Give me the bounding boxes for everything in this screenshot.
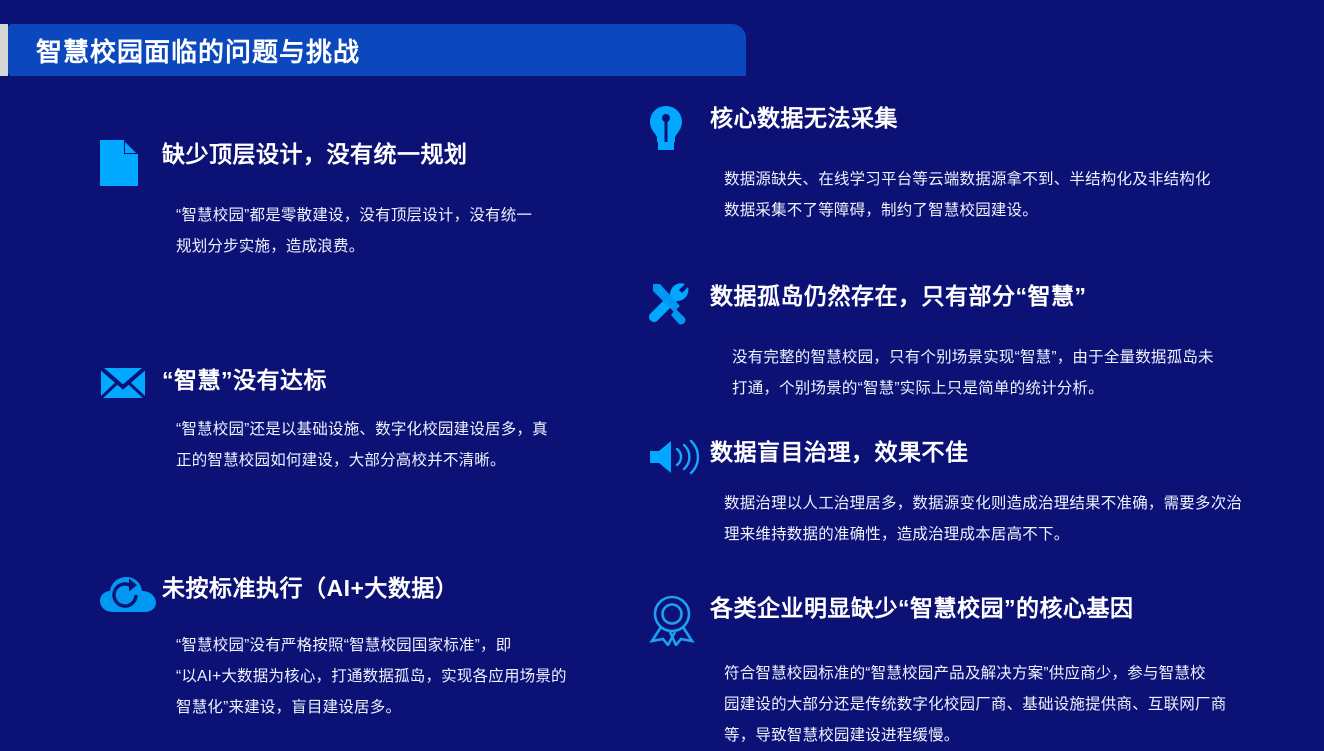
issue-body: 符合智慧校园标准的“智慧校园产品及解决方案”供应商少，参与智慧校 园建设的大部分… xyxy=(724,658,1308,751)
tools-icon xyxy=(648,282,710,328)
issue-title: 核心数据无法采集 xyxy=(710,104,898,133)
issue-title: 未按标准执行（AI+大数据） xyxy=(162,574,458,603)
envelope-icon xyxy=(100,366,162,400)
issue-title: 数据盲目治理，效果不佳 xyxy=(710,438,969,467)
award-icon xyxy=(648,594,710,646)
left-column: 缺少顶层设计，没有统一规划 “智慧校园”都是零散建设，没有顶层设计，没有统一 规… xyxy=(100,140,630,723)
issue-item-data-silos: 数据孤岛仍然存在，只有部分“智慧” 没有完整的智慧校园，只有个别场景实现“智慧”… xyxy=(648,282,1308,404)
issue-title: 缺少顶层设计，没有统一规划 xyxy=(162,140,468,169)
issue-item-blind-data-governance: 数据盲目治理，效果不佳 数据治理以人工治理居多，数据源变化则造成治理结果不准确，… xyxy=(648,438,1308,550)
page-title: 智慧校园面临的问题与挑战 xyxy=(36,32,360,69)
issue-title: 数据孤岛仍然存在，只有部分“智慧” xyxy=(710,282,1087,311)
issue-body: 没有完整的智慧校园，只有个别场景实现“智慧”，由于全量数据孤岛未 打通，个别场景… xyxy=(732,342,1308,404)
cloud-sync-icon xyxy=(100,574,162,616)
issue-item-missing-top-level-design: 缺少顶层设计，没有统一规划 “智慧校园”都是零散建设，没有顶层设计，没有统一 规… xyxy=(100,140,630,262)
issue-body: “智慧校园”都是零散建设，没有顶层设计，没有统一 规划分步实施，造成浪费。 xyxy=(176,200,630,262)
slide-canvas: 智慧校园面临的问题与挑战 缺少顶层设计，没有统一规划 “智慧校园”都是零散建设，… xyxy=(0,0,1324,744)
issue-body: “智慧校园”没有严格按照“智慧校园国家标准”，即 “以AI+大数据为核心，打通数… xyxy=(176,630,630,723)
issue-title: “智慧”没有达标 xyxy=(162,366,327,395)
header-left-accent xyxy=(0,24,8,76)
lightbulb-icon xyxy=(648,104,710,152)
issue-title: 各类企业明显缺少“智慧校园”的核心基因 xyxy=(710,594,1134,623)
document-icon xyxy=(100,140,162,186)
header-banner: 智慧校园面临的问题与挑战 xyxy=(8,24,746,76)
issue-body: 数据治理以人工治理居多，数据源变化则造成治理结果不准确，需要多次治 理来维持数据… xyxy=(724,488,1308,550)
issue-item-lack-of-core-dna: 各类企业明显缺少“智慧校园”的核心基因 符合智慧校园标准的“智慧校园产品及解决方… xyxy=(648,594,1308,751)
issue-body: “智慧校园”还是以基础设施、数字化校园建设居多，真 正的智慧校园如何建设，大部分… xyxy=(176,414,630,476)
right-column: 核心数据无法采集 数据源缺失、在线学习平台等云端数据源拿不到、半结构化及非结构化… xyxy=(648,104,1308,751)
issue-item-core-data-uncollectable: 核心数据无法采集 数据源缺失、在线学习平台等云端数据源拿不到、半结构化及非结构化… xyxy=(648,104,1308,226)
issue-item-smart-not-meeting-standard: “智慧”没有达标 “智慧校园”还是以基础设施、数字化校园建设居多，真 正的智慧校… xyxy=(100,366,630,476)
issue-body: 数据源缺失、在线学习平台等云端数据源拿不到、半结构化及非结构化 数据采集不了等障… xyxy=(724,164,1308,226)
issue-item-standards-not-followed: 未按标准执行（AI+大数据） “智慧校园”没有严格按照“智慧校园国家标准”，即 … xyxy=(100,574,630,723)
speaker-icon xyxy=(648,438,710,476)
